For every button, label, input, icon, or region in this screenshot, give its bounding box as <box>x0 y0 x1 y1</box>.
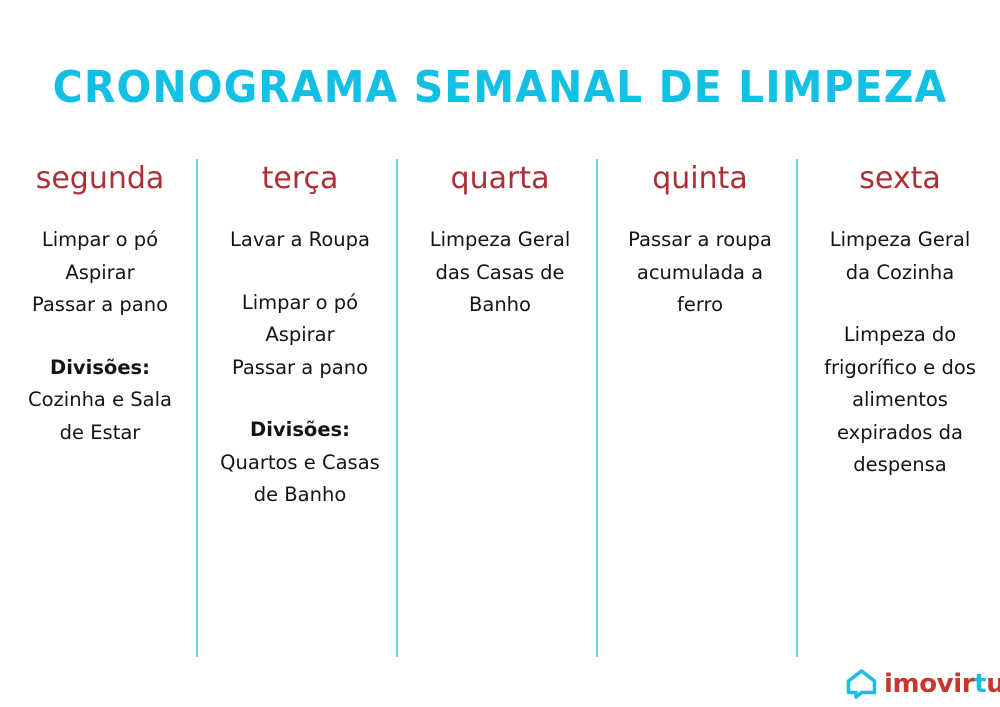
task-line: Passar a roupa <box>608 224 792 257</box>
task-line: ferro <box>608 289 792 322</box>
cleaning-schedule-poster: CRONOGRAMA SEMANAL DE LIMPEZA segundaLim… <box>0 0 1000 707</box>
day-tasks-quinta: Passar a roupaacumulada aferro <box>608 224 792 322</box>
task-line: da Cozinha <box>808 257 992 290</box>
logo-word-before: imovir <box>884 669 974 699</box>
logo-word-after: ual <box>986 669 1000 699</box>
task-line: Aspirar <box>208 319 392 352</box>
task-block: Passar a roupaacumulada aferro <box>608 224 792 322</box>
task-line: Limpeza Geral <box>808 224 992 257</box>
task-block: Limpar o póAspirarPassar a pano <box>8 224 192 322</box>
logo-word-highlight: t <box>974 669 986 699</box>
task-line: expirados da <box>808 417 992 450</box>
day-column-quinta: quintaPassar a roupaacumulada aferro <box>600 155 800 660</box>
task-line: Aspirar <box>8 257 192 290</box>
task-line: Lavar a Roupa <box>208 224 392 257</box>
task-line: alimentos <box>808 384 992 417</box>
task-line: frigorífico e dos <box>808 352 992 385</box>
day-column-sexta: sextaLimpeza Geralda CozinhaLimpeza dofr… <box>800 155 1000 660</box>
task-line: Quartos e Casas <box>208 447 392 480</box>
task-line: despensa <box>808 449 992 482</box>
task-label: Divisões: <box>208 414 392 447</box>
task-line: de Estar <box>8 417 192 450</box>
task-block: Divisões:Quartos e Casasde Banho <box>208 414 392 512</box>
task-label: Divisões: <box>8 352 192 385</box>
task-line: de Banho <box>208 479 392 512</box>
task-line: Cozinha e Sala <box>8 384 192 417</box>
day-column-segunda: segundaLimpar o póAspirarPassar a panoDi… <box>0 155 200 660</box>
task-line: Banho <box>408 289 592 322</box>
day-header-sexta: sexta <box>859 164 940 194</box>
day-tasks-quarta: Limpeza Geraldas Casas deBanho <box>408 224 592 322</box>
task-line: Limpar o pó <box>8 224 192 257</box>
day-tasks-terça: Lavar a RoupaLimpar o póAspirarPassar a … <box>208 224 392 512</box>
task-line: Limpar o pó <box>208 287 392 320</box>
task-line: Passar a pano <box>208 352 392 385</box>
task-line: das Casas de <box>408 257 592 290</box>
weekday-columns: segundaLimpar o póAspirarPassar a panoDi… <box>0 155 1000 660</box>
day-column-terça: terçaLavar a RoupaLimpar o póAspirarPass… <box>200 155 400 660</box>
task-block: Limpeza Geralda Cozinha <box>808 224 992 289</box>
day-tasks-segunda: Limpar o póAspirarPassar a panoDivisões:… <box>8 224 192 449</box>
day-header-quarta: quarta <box>451 164 550 194</box>
task-block: Divisões:Cozinha e Salade Estar <box>8 352 192 450</box>
page-title: CRONOGRAMA SEMANAL DE LIMPEZA <box>35 66 965 110</box>
day-column-quarta: quartaLimpeza Geraldas Casas deBanho <box>400 155 600 660</box>
task-block: Lavar a Roupa <box>208 224 392 257</box>
task-block: Limpeza dofrigorífico e dosalimentosexpi… <box>808 319 992 482</box>
imovirtual-logo: imovirtual <box>846 667 1000 701</box>
task-block: Limpar o póAspirarPassar a pano <box>208 287 392 385</box>
task-line: Limpeza Geral <box>408 224 592 257</box>
task-block: Limpeza Geraldas Casas deBanho <box>408 224 592 322</box>
day-tasks-sexta: Limpeza Geralda CozinhaLimpeza dofrigorí… <box>808 224 992 482</box>
house-speech-bubble-icon <box>846 669 877 699</box>
task-line: Passar a pano <box>8 289 192 322</box>
task-line: acumulada a <box>608 257 792 290</box>
day-header-quinta: quinta <box>652 164 748 194</box>
task-line: Limpeza do <box>808 319 992 352</box>
logo-wordmark: imovirtual <box>884 671 1000 697</box>
day-header-terça: terça <box>262 164 339 194</box>
day-header-segunda: segunda <box>36 164 165 194</box>
